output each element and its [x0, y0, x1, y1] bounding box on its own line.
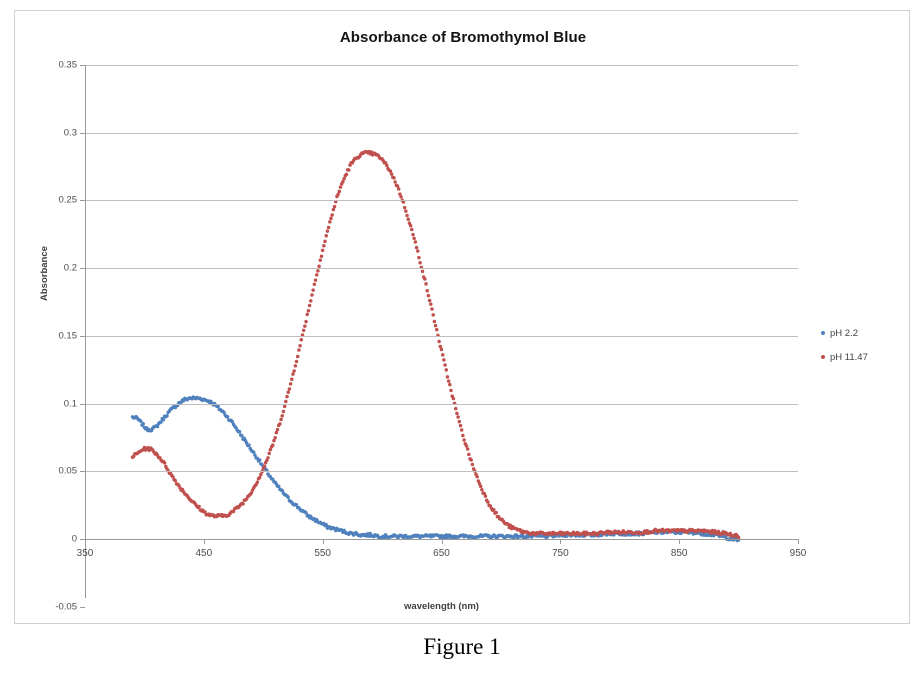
gridline: [85, 200, 798, 201]
gridline: [85, 268, 798, 269]
legend-label: pH 11.47: [830, 352, 868, 363]
x-axis-tick: [679, 539, 680, 544]
y-axis-tick-label: 0.3: [64, 127, 77, 138]
legend-marker-icon: [821, 331, 825, 335]
x-axis-tick-label: 450: [195, 548, 212, 559]
x-axis-tick: [442, 539, 443, 544]
x-axis-tick: [204, 539, 205, 544]
legend-marker-icon: [821, 355, 825, 359]
gridline: [85, 65, 798, 66]
plot-area: -0.0500.050.10.150.20.250.30.35 35045055…: [85, 65, 798, 539]
y-axis-tick: [80, 404, 85, 405]
gridline: [85, 336, 798, 337]
legend-entry[interactable]: pH 11.47: [821, 345, 909, 369]
figure-caption: Figure 1: [0, 634, 924, 660]
x-axis-tick: [85, 539, 86, 544]
y-axis-tick: [80, 336, 85, 337]
figure-page: Absorbance of Bromothymol Blue Absorbanc…: [0, 0, 924, 676]
series-1: [131, 395, 741, 542]
x-axis-tick: [323, 539, 324, 544]
y-axis-tick-label: 0.35: [59, 60, 78, 71]
plot-canvas: -0.0500.050.10.150.20.250.30.35 35045055…: [85, 65, 798, 539]
gridline: [85, 133, 798, 134]
legend-label: pH 2.2: [830, 328, 858, 339]
x-axis-tick-label: 950: [790, 548, 807, 559]
y-axis-tick-label: 0.05: [59, 466, 78, 477]
data-series-layer: [85, 65, 798, 598]
y-axis-tick-label: 0.15: [59, 330, 78, 341]
y-axis-tick-label: 0.25: [59, 195, 78, 206]
x-axis-title: wavelength (nm): [85, 601, 798, 612]
y-axis-tick-label: 0.2: [64, 263, 77, 274]
y-axis-tick: [80, 200, 85, 201]
x-axis-tick-label: 850: [671, 548, 688, 559]
y-axis-tick-label: -0.05: [55, 601, 77, 612]
y-axis-line: [85, 65, 86, 598]
x-axis-tick: [560, 539, 561, 544]
x-axis-tick-label: 550: [314, 548, 331, 559]
x-axis-tick: [798, 539, 799, 544]
y-axis-tick: [80, 65, 85, 66]
legend-entry[interactable]: pH 2.2: [821, 321, 909, 345]
y-axis-title: Absorbance: [39, 246, 50, 301]
gridline: [85, 471, 798, 472]
y-axis-tick-label: 0.1: [64, 398, 77, 409]
y-axis-tick: [80, 133, 85, 134]
chart-title: Absorbance of Bromothymol Blue: [15, 29, 911, 46]
gridline: [85, 404, 798, 405]
y-axis-tick: [80, 268, 85, 269]
x-axis-tick-label: 350: [77, 548, 94, 559]
x-axis-tick-label: 650: [433, 548, 450, 559]
chart-container: Absorbance of Bromothymol Blue Absorbanc…: [14, 10, 910, 624]
x-axis-tick-label: 750: [552, 548, 569, 559]
y-axis-tick: [80, 471, 85, 472]
y-axis-tick-label: 0: [72, 534, 77, 545]
chart-legend: pH 2.2pH 11.47: [821, 321, 909, 369]
series-2: [131, 150, 741, 539]
